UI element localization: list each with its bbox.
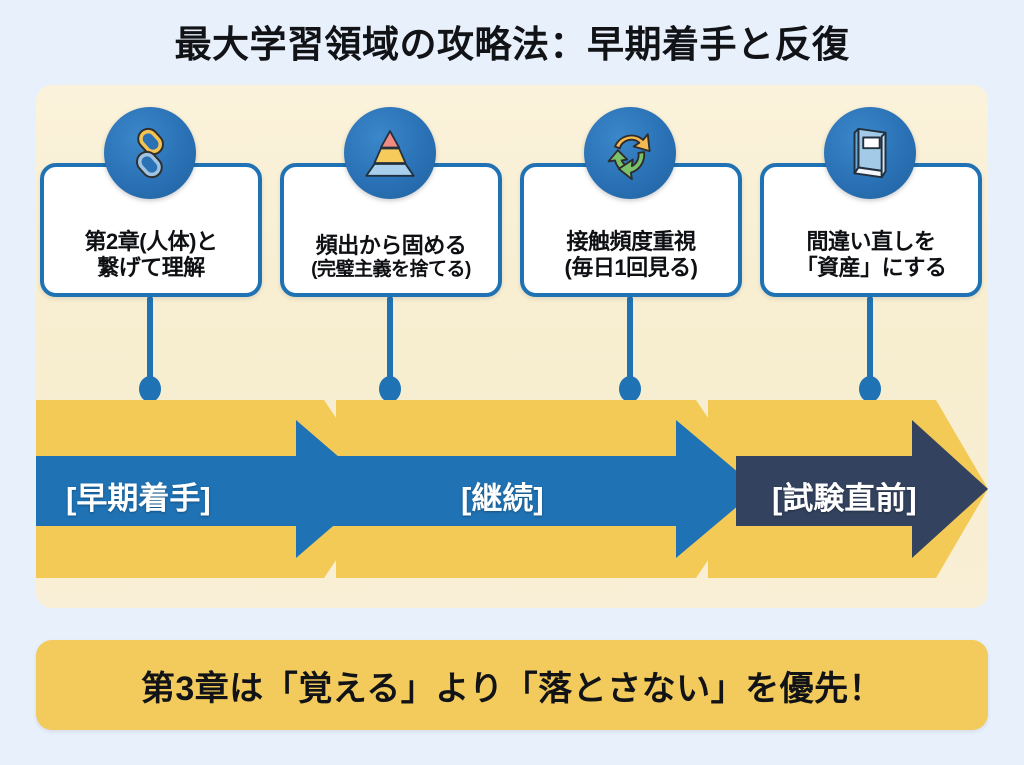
connector-line-1 xyxy=(147,296,153,388)
stage-label-1: [早期着手] xyxy=(66,473,211,518)
page-title: 最大学習領域の攻略法：早期着手と反復 xyxy=(0,14,1024,68)
book-icon xyxy=(824,107,916,199)
connector-line-3 xyxy=(627,296,633,388)
connector-line-2 xyxy=(387,296,393,388)
card-1-line1: 第2章(人体)と xyxy=(44,229,258,255)
card-2-line2: (完璧主義を捨てる) xyxy=(284,259,498,281)
card-4-text: 間違い直しを 「資産」にする xyxy=(764,229,978,281)
stage-label-3: [試験直前] xyxy=(772,473,917,518)
card-2-line1: 頻出から固める xyxy=(284,233,498,259)
card-1-text: 第2章(人体)と 繋げて理解 xyxy=(44,229,258,281)
summary-banner-text: 第3章は「覚える」より「落とさない」を優先！ xyxy=(141,661,883,710)
card-3-text: 接触頻度重視 (毎日1回見る) xyxy=(524,229,738,281)
card-4-line1: 間違い直しを xyxy=(764,229,978,255)
chain-link-icon xyxy=(104,107,196,199)
card-4-line2: 「資産」にする xyxy=(764,255,978,281)
pyramid-icon xyxy=(344,107,436,199)
card-2-text: 頻出から固める (完璧主義を捨てる) xyxy=(284,233,498,281)
connector-line-4 xyxy=(867,296,873,388)
card-3-line2: (毎日1回見る) xyxy=(524,255,738,281)
summary-banner: 第3章は「覚える」より「落とさない」を優先！ xyxy=(36,640,988,730)
stage-label-2: [継続] xyxy=(461,473,544,518)
recycle-arrows-icon xyxy=(584,107,676,199)
card-3-line1: 接触頻度重視 xyxy=(524,229,738,255)
card-1-line2: 繋げて理解 xyxy=(44,255,258,281)
